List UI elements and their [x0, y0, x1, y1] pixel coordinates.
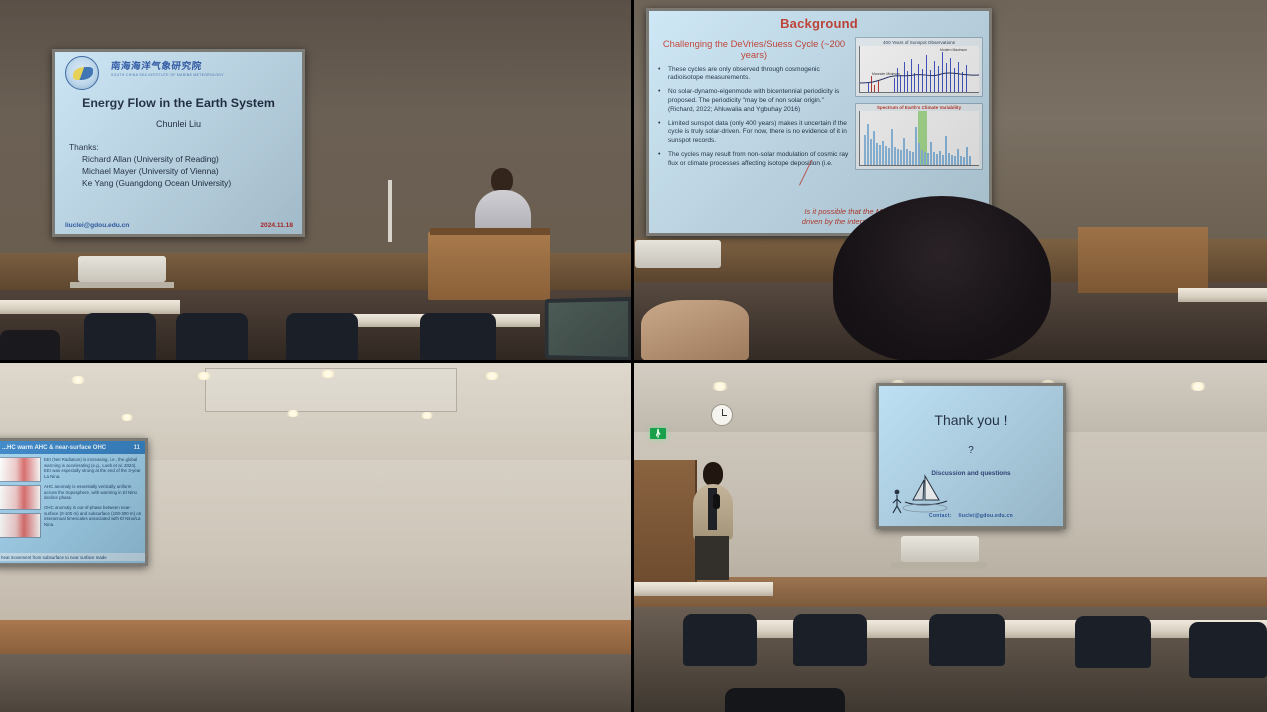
podium	[428, 232, 550, 300]
microphone-stand	[388, 180, 392, 242]
wooden-door[interactable]	[633, 460, 697, 588]
institute-name-cn: 南海海洋气象研究院	[110, 58, 202, 72]
slide-author: Chunlei Liu	[55, 119, 302, 129]
chair	[286, 313, 358, 362]
chair	[929, 614, 1005, 666]
ceiling-light	[120, 414, 134, 421]
results-slide: ...HC warm AHC & near-surface OHC 11 EEI…	[0, 441, 145, 563]
bullet-0: These cycles are only observed through c…	[656, 66, 852, 83]
projection-screen: 南海海洋气象研究院 SOUTH CHINA SEA INSTITUTE OF M…	[52, 49, 305, 237]
microphone-icon	[713, 494, 720, 509]
moderator-head	[703, 462, 723, 486]
projector	[635, 240, 721, 268]
gdou-logo-icon	[65, 56, 99, 90]
slide-figure-column	[0, 457, 41, 541]
chair	[420, 313, 496, 362]
projector-cart	[891, 562, 987, 569]
photo-collage: 南海海洋气象研究院 SOUTH CHINA SEA INSTITUTE OF M…	[0, 0, 1267, 712]
wall-wainscot	[0, 620, 633, 654]
projector	[78, 256, 166, 282]
wall-clock-icon	[711, 404, 733, 426]
front-table	[0, 300, 180, 314]
panel-gutter-horizontal	[0, 360, 1267, 363]
audience-head-foreground	[833, 196, 1051, 362]
institute-name-en: SOUTH CHINA SEA INSTITUTE OF MARINE METE…	[111, 73, 224, 77]
slide-footer: liuclei@gdou.edu.cn 2024.11.18	[65, 222, 293, 229]
chair	[1189, 622, 1267, 678]
panel-gutter-vertical	[631, 0, 634, 712]
figure-panel	[0, 457, 41, 482]
ceiling-light	[484, 372, 500, 380]
projection-screen: ...HC warm AHC & near-surface OHC 11 EEI…	[0, 438, 148, 566]
projection-screen: Thank you ! ? Discussion and questions C…	[876, 383, 1066, 529]
slide-page-number: 11	[134, 445, 140, 451]
slide-figures: 400 Years of Sunspot Observations	[855, 37, 983, 170]
slide-body-left: Challenging the DeVries/Suess Cycle (~20…	[656, 38, 852, 174]
chair	[793, 614, 867, 666]
bullet-2: Limited sunspot data (only 400 years) ma…	[656, 120, 852, 146]
sunspot-chart: 400 Years of Sunspot Observations	[855, 37, 983, 97]
moderator-trousers	[695, 536, 729, 580]
audience-head-foreground	[725, 688, 845, 712]
sailboat-artwork-icon	[889, 470, 959, 516]
sunspot-chart-plot: Maunder Minimum Modern Maximum	[859, 46, 979, 93]
slide-title: Energy Flow in the Earth System	[55, 96, 302, 110]
slide-title: ...HC warm AHC & near-surface OHC	[2, 445, 106, 451]
chair	[683, 614, 757, 666]
ceiling-light	[320, 370, 336, 378]
ceiling-light	[420, 412, 434, 419]
contact-email: liuclei@gdou.edu.cn	[65, 222, 129, 229]
moderator-with-microphone	[693, 462, 733, 580]
thanks-label: Thanks:	[69, 142, 99, 152]
slide-title: Thank you !	[879, 412, 1063, 428]
label-maunder-minimum: Maunder Minimum	[872, 72, 900, 76]
climate-spectrum-chart: Spectrum of Earth's Climate Variability	[855, 103, 983, 171]
climate-spectrum-title: Spectrum of Earth's Climate Variability	[856, 104, 982, 111]
figure-panel	[0, 513, 41, 538]
panel-thank-you-closing: Thank you ! ? Discussion and questions C…	[633, 362, 1267, 712]
chair	[84, 313, 156, 362]
slide-text-column: EEI (Net Radiation) is increasing, i.e.,…	[44, 457, 142, 532]
panel-background-slide-talk: Background Challenging the DeVries/Suess…	[633, 0, 1267, 362]
slide-paragraph-1: AHC anomaly is essentially vertically un…	[44, 484, 142, 501]
thanks-item-0: Richard Allan (University of Reading)	[69, 154, 302, 166]
bullet-1: No solar-dynamo-eigenmode with bicentenn…	[656, 88, 852, 114]
ceiling-light	[711, 382, 729, 391]
laptop-screen[interactable]	[548, 301, 628, 357]
podium-top	[430, 228, 550, 235]
panel-title-slide-talk: 南海海洋气象研究院 SOUTH CHINA SEA INSTITUTE OF M…	[0, 0, 633, 362]
chair	[1075, 616, 1151, 668]
contact-email: liuclei@gdou.edu.cn	[958, 513, 1012, 519]
title-slide: 南海海洋气象研究院 SOUTH CHINA SEA INSTITUTE OF M…	[55, 52, 302, 234]
thanks-block: Thanks: Richard Allan (University of Rea…	[69, 142, 302, 190]
ceiling-light	[286, 410, 300, 417]
figure-panel	[0, 485, 41, 510]
panel-audience-qa: ...HC warm AHC & near-surface OHC 11 EEI…	[0, 362, 633, 712]
presentation-date: 2024.11.18	[260, 222, 293, 229]
climate-spectrum-plot	[859, 111, 979, 166]
sunspot-chart-title: 400 Years of Sunspot Observations	[856, 38, 982, 45]
ceiling-light	[196, 372, 212, 380]
front-table	[633, 582, 773, 596]
floor	[0, 654, 633, 712]
laptop[interactable]	[545, 297, 632, 361]
audience-shoulder-foreground	[641, 300, 749, 362]
projector-stand	[70, 282, 174, 288]
emergency-exit-sign-icon	[650, 428, 666, 439]
ceiling-light	[1189, 382, 1207, 391]
slide-contact: Contact: liuclei@gdou.edu.cn	[879, 513, 1063, 519]
ceiling-light	[70, 376, 86, 384]
podium	[1078, 227, 1208, 293]
slide-footer: heat movement from subsurface to near su…	[0, 553, 145, 561]
audience-head-foreground	[0, 330, 60, 362]
thank-you-slide: Thank you ! ? Discussion and questions C…	[879, 386, 1063, 526]
chair	[176, 313, 248, 362]
slide-question-mark: ?	[879, 445, 1063, 456]
slide-header-bar: ...HC warm AHC & near-surface OHC 11	[0, 441, 145, 454]
thanks-item-2: Ke Yang (Guangdong Ocean University)	[69, 178, 302, 190]
projector	[901, 536, 979, 562]
slide-heading: Challenging the DeVries/Suess Cycle (~20…	[656, 38, 852, 61]
thanks-item-1: Michael Mayer (University of Vienna)	[69, 166, 302, 178]
slide-paragraph-2: OHC anomaly is out-of-phase between near…	[44, 505, 142, 528]
slide-paragraph-0: EEI (Net Radiation) is increasing, i.e.,…	[44, 457, 142, 480]
label-modern-maximum: Modern Maximum	[940, 48, 967, 52]
slide-header: 南海海洋气象研究院 SOUTH CHINA SEA INSTITUTE OF M…	[55, 52, 302, 92]
side-table	[1178, 288, 1267, 302]
slide-body: EEI (Net Radiation) is increasing, i.e.,…	[0, 454, 145, 460]
contact-label: Contact:	[929, 513, 952, 519]
slide-title: Background	[649, 16, 989, 31]
